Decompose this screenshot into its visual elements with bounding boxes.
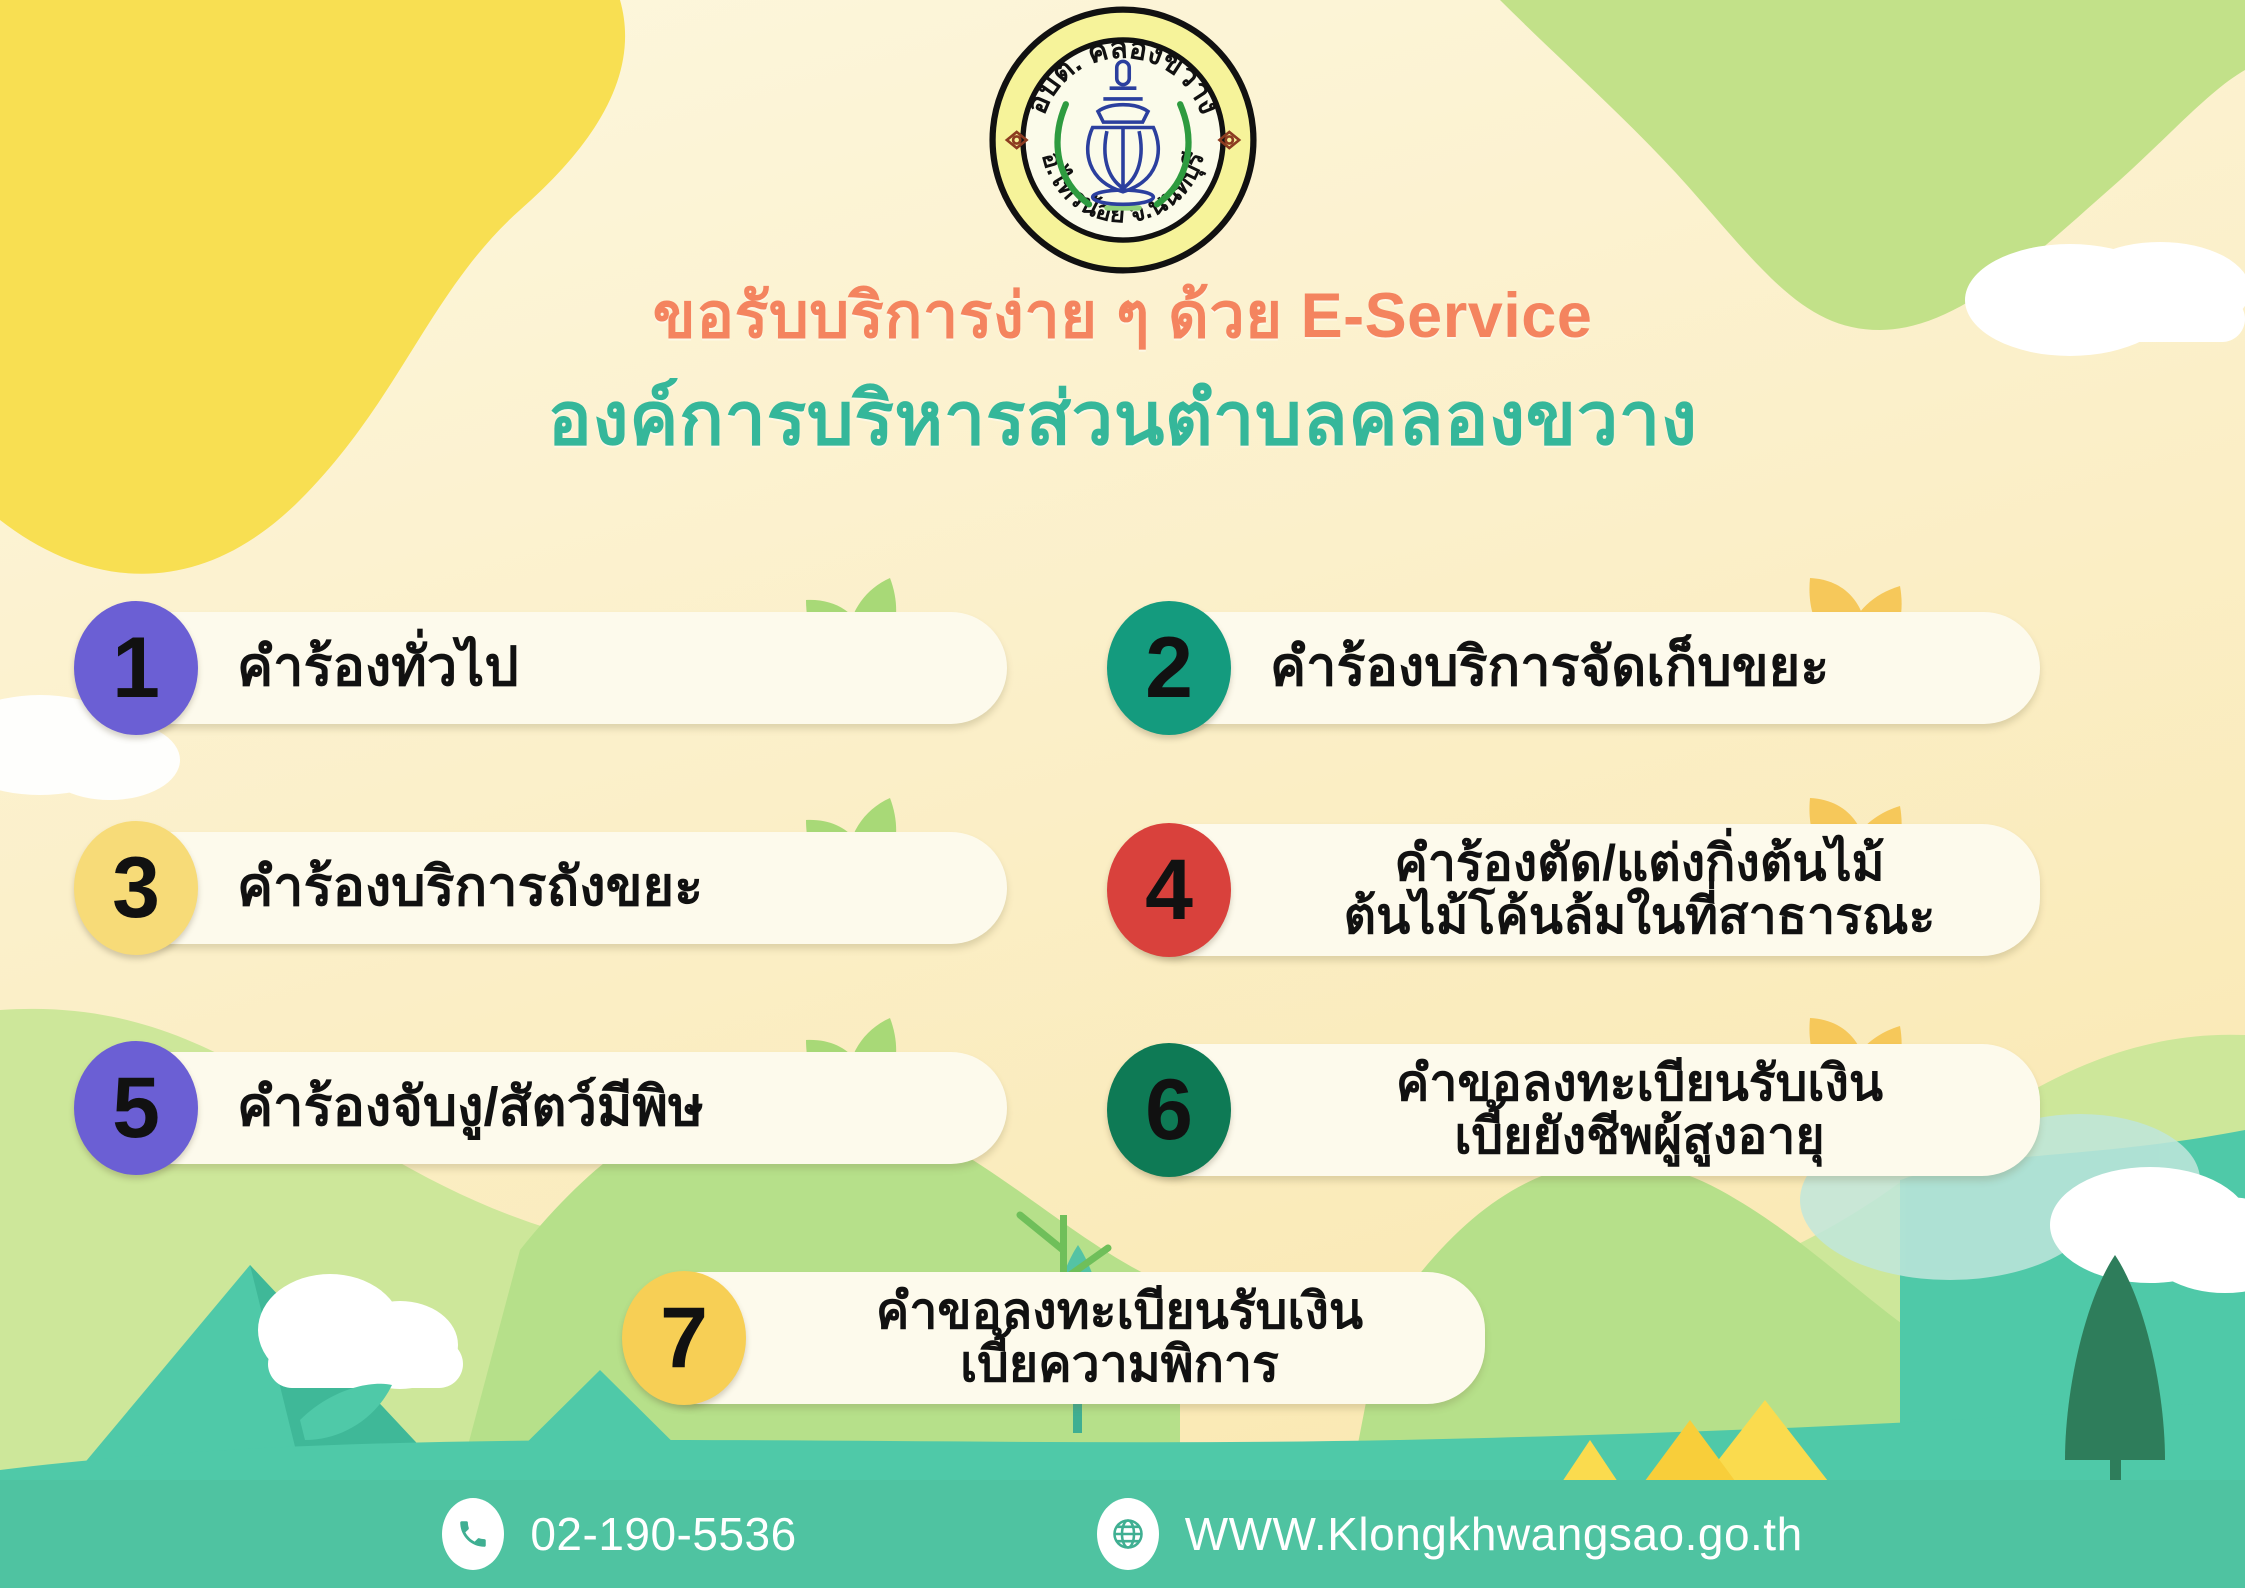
service-item-5[interactable]: 5 คำร้องจับงู/สัตว์มีพิษ — [92, 1052, 1007, 1164]
service-item-3[interactable]: 3 คำร้องบริการถังขยะ — [92, 832, 1007, 944]
service-label-1: คำร้องทั่วไป — [92, 639, 1007, 696]
service-label-7: คำขอลงทะเบียนรับเงิน เบี้ยความพิการ — [640, 1285, 1485, 1391]
service-label-7-line1: คำขอลงทะเบียนรับเงิน — [876, 1283, 1363, 1339]
contact-footer: 02-190-5536 WWW.Klongkhwangsao.go.th — [0, 1480, 2245, 1588]
service-label-4-line1: คำร้องตัด/แต่งกิ่งต้นไม้ — [1394, 835, 1884, 891]
website-contact[interactable]: WWW.Klongkhwangsao.go.th — [1097, 1498, 1803, 1570]
service-number-badge-5: 5 — [74, 1041, 198, 1175]
service-label-4: คำร้องตัด/แต่งกิ่งต้นไม้ ต้นไม้โค้นล้มใน… — [1125, 837, 2040, 943]
service-label-6-line1: คำขอลงทะเบียนรับเงิน — [1396, 1055, 1883, 1111]
service-label-2: คำร้องบริการจัดเก็บขยะ — [1125, 639, 2040, 696]
website-url: WWW.Klongkhwangsao.go.th — [1185, 1507, 1803, 1561]
phone-contact[interactable]: 02-190-5536 — [442, 1498, 796, 1570]
globe-icon — [1097, 1498, 1159, 1570]
service-number-badge-2: 2 — [1107, 601, 1231, 735]
service-item-2[interactable]: 2 คำร้องบริการจัดเก็บขยะ — [1125, 612, 2040, 724]
service-label-5: คำร้องจับงู/สัตว์มีพิษ — [92, 1079, 1007, 1136]
poster-header: อบต. คลองขวาง อ.ไทรน้อย จ.นนทบุรี — [0, 0, 2245, 460]
service-item-1[interactable]: 1 คำร้องทั่วไป — [92, 612, 1007, 724]
organization-seal-logo: อบต. คลองขวาง อ.ไทรน้อย จ.นนทบุรี — [989, 6, 1257, 274]
service-number-badge-3: 3 — [74, 821, 198, 955]
poster-root: อบต. คลองขวาง อ.ไทรน้อย จ.นนทบุรี — [0, 0, 2245, 1588]
service-label-3: คำร้องบริการถังขยะ — [92, 859, 1007, 916]
service-label-7-line2: เบี้ยความพิการ — [790, 1338, 1449, 1391]
service-item-6[interactable]: 6 คำขอลงทะเบียนรับเงิน เบี้ยยังชีพผู้สูง… — [1125, 1044, 2040, 1176]
service-label-6-line2: เบี้ยยังชีพผู้สูงอายุ — [1275, 1110, 2004, 1163]
grass-blade-left — [300, 1384, 392, 1440]
page-title: องค์การบริหารส่วนตำบลคลองขวาง — [0, 378, 2245, 459]
cloud-bottomleft — [258, 1274, 463, 1389]
cloud-white-right — [2050, 1167, 2245, 1293]
service-number-badge-7: 7 — [622, 1271, 746, 1405]
service-item-7[interactable]: 7 คำขอลงทะเบียนรับเงิน เบี้ยความพิการ — [640, 1272, 1485, 1404]
service-label-6: คำขอลงทะเบียนรับเงิน เบี้ยยังชีพผู้สูงอา… — [1125, 1057, 2040, 1163]
service-item-4[interactable]: 4 คำร้องตัด/แต่งกิ่งต้นไม้ ต้นไม้โค้นล้ม… — [1125, 824, 2040, 956]
service-number-badge-1: 1 — [74, 601, 198, 735]
service-label-4-line2: ต้นไม้โค้นล้มในที่สาธารณะ — [1275, 890, 2004, 943]
service-number-badge-4: 4 — [1107, 823, 1231, 957]
page-tagline: ขอรับบริการง่าย ๆ ด้วย E-Service — [0, 280, 2245, 352]
phone-icon — [442, 1498, 504, 1570]
phone-number: 02-190-5536 — [530, 1507, 796, 1561]
service-number-badge-6: 6 — [1107, 1043, 1231, 1177]
